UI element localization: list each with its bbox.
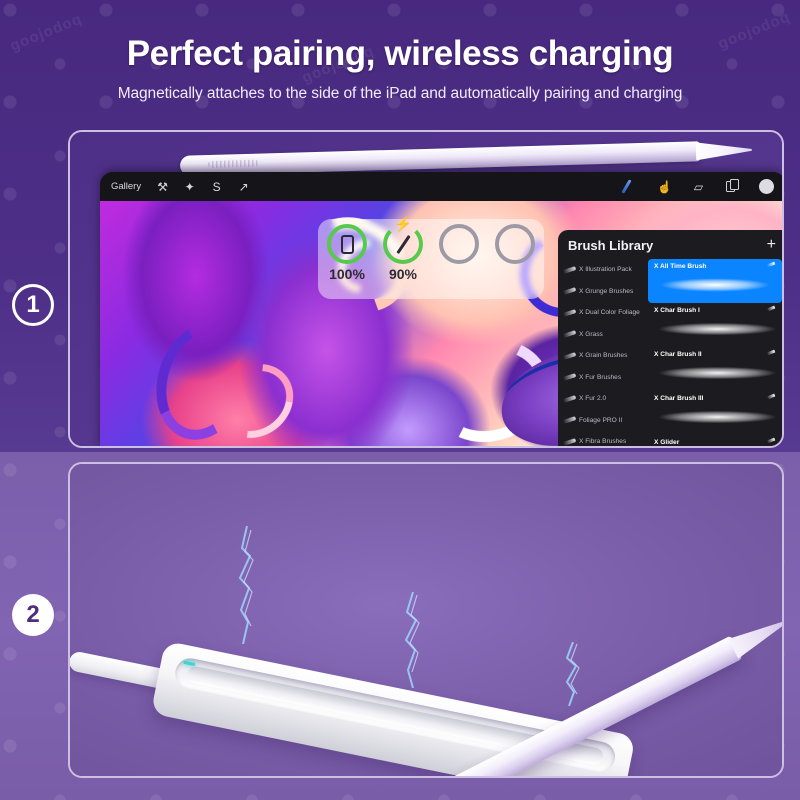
panel-ipad-scene: Gallery ⚒ ✦ S ↗ ☝ — [68, 130, 784, 448]
magnetic-spark-icon — [560, 642, 586, 706]
brush-category-item[interactable]: X Illustration Pack — [563, 259, 648, 281]
brush-icon[interactable] — [622, 178, 639, 195]
color-circle-icon[interactable] — [758, 178, 775, 195]
brush-stroke-preview — [654, 407, 776, 427]
brush-library-header: Brush Library + — [558, 230, 784, 259]
transform-arrow-icon[interactable]: ↗ — [235, 178, 252, 195]
brush-item-label: X Glider — [654, 439, 776, 446]
artwork-canvas[interactable]: 100% ⚡ 90% — [100, 201, 784, 448]
brush-item-label: X Char Brush I — [654, 307, 776, 314]
gallery-button[interactable]: Gallery — [111, 181, 141, 192]
brush-category-label: X Fur Brushes — [579, 374, 621, 381]
brush-library-panel: Brush Library + X Illustration Pack X Gr… — [558, 230, 784, 448]
battery-widget: 100% ⚡ 90% — [318, 219, 544, 299]
wrench-icon[interactable]: ⚒ — [154, 178, 171, 195]
magnetic-spark-icon — [400, 592, 426, 688]
header: Perfect pairing, wireless charging Magne… — [0, 0, 800, 103]
brush-item-label: X All Time Brush — [654, 263, 776, 270]
brush-category-list: X Illustration Pack X Grunge Brushes X D… — [558, 259, 648, 448]
battery-ring-empty — [439, 224, 479, 264]
lightning-bolt-icon: ⚡ — [394, 217, 413, 232]
brush-category-label: X Grunge Brushes — [579, 288, 633, 295]
smudge-icon[interactable]: ☝ — [656, 178, 673, 195]
battery-item-pencil: ⚡ 90% — [378, 224, 428, 282]
brush-category-item[interactable]: X Grain Brushes — [563, 345, 648, 367]
brush-item[interactable]: X Char Brush I — [648, 303, 782, 347]
brush-category-item[interactable]: X Grass — [563, 324, 648, 346]
eraser-icon[interactable]: ▱ — [690, 178, 707, 195]
brush-category-item[interactable]: X Grunge Brushes — [563, 281, 648, 303]
ipad-icon — [341, 235, 354, 254]
battery-item-ipad: 100% — [322, 224, 372, 282]
brush-stroke-preview — [654, 319, 776, 339]
brush-item[interactable]: X Char Brush II — [648, 347, 782, 391]
battery-item-empty-2 — [490, 224, 540, 264]
brush-item-label: X Char Brush III — [654, 395, 776, 402]
brush-category-item[interactable]: X Fur 2.0 — [563, 388, 648, 410]
brush-category-item[interactable]: X Fibra Brushes — [563, 431, 648, 448]
brush-item-selected[interactable]: X All Time Brush — [648, 259, 782, 303]
step-badge-2: 2 — [12, 594, 54, 636]
brush-stroke-preview — [654, 363, 776, 383]
add-brush-button[interactable]: + — [767, 237, 776, 253]
step-badge-1-label: 1 — [26, 293, 39, 317]
battery-ring-empty — [495, 224, 535, 264]
battery-percent-pencil: 90% — [378, 266, 428, 282]
battery-percent-ipad: 100% — [322, 266, 372, 282]
magic-wand-icon[interactable]: ✦ — [181, 178, 198, 195]
brush-category-label: X Illustration Pack — [579, 266, 632, 273]
brush-category-label: X Dual Color Foliage — [579, 309, 640, 316]
brush-category-label: X Grass — [579, 331, 603, 338]
battery-item-empty-1 — [434, 224, 484, 264]
pencil-icon — [396, 234, 410, 253]
battery-ring-ipad — [327, 224, 367, 264]
brush-category-item[interactable]: X Dual Color Foliage — [563, 302, 648, 324]
brush-item[interactable]: X Glider — [648, 435, 782, 448]
brush-category-label: X Fur 2.0 — [579, 395, 606, 402]
step-badge-1: 1 — [12, 284, 54, 326]
step-badge-2-label: 2 — [26, 603, 39, 627]
product-infographic: goojodoq goojodoq goojodoq Perfect pairi… — [0, 0, 800, 800]
magnetic-spark-icon — [234, 526, 260, 644]
brush-item-label: X Char Brush II — [654, 351, 776, 358]
brush-list: X All Time Brush X Char Brush I X Char B — [648, 259, 784, 448]
brush-category-item[interactable]: Foliage PRO II — [563, 410, 648, 432]
brush-library-body: X Illustration Pack X Grunge Brushes X D… — [558, 259, 784, 448]
procreate-toolbar: Gallery ⚒ ✦ S ↗ ☝ — [100, 172, 784, 201]
brush-stroke-preview — [654, 275, 776, 295]
page-title: Perfect pairing, wireless charging — [0, 34, 800, 74]
brush-category-label: X Grain Brushes — [579, 352, 627, 359]
battery-ring-pencil: ⚡ — [383, 224, 423, 264]
page-subtitle: Magnetically attaches to the side of the… — [0, 85, 800, 103]
brush-item[interactable]: X Char Brush III — [648, 391, 782, 435]
toolbar-right-group: ☝ ▱ — [605, 178, 775, 195]
layers-icon[interactable] — [724, 178, 741, 195]
brush-category-item[interactable]: X Fur Brushes — [563, 367, 648, 389]
selection-s-icon[interactable]: S — [208, 178, 225, 195]
brush-library-title: Brush Library — [568, 238, 653, 253]
ipad-device: Gallery ⚒ ✦ S ↗ ☝ — [100, 172, 784, 448]
stylus-engraving — [208, 160, 258, 168]
panel-dock-scene — [68, 462, 784, 778]
brush-category-label: X Fibra Brushes — [579, 438, 626, 445]
brush-category-label: Foliage PRO II — [579, 417, 622, 424]
